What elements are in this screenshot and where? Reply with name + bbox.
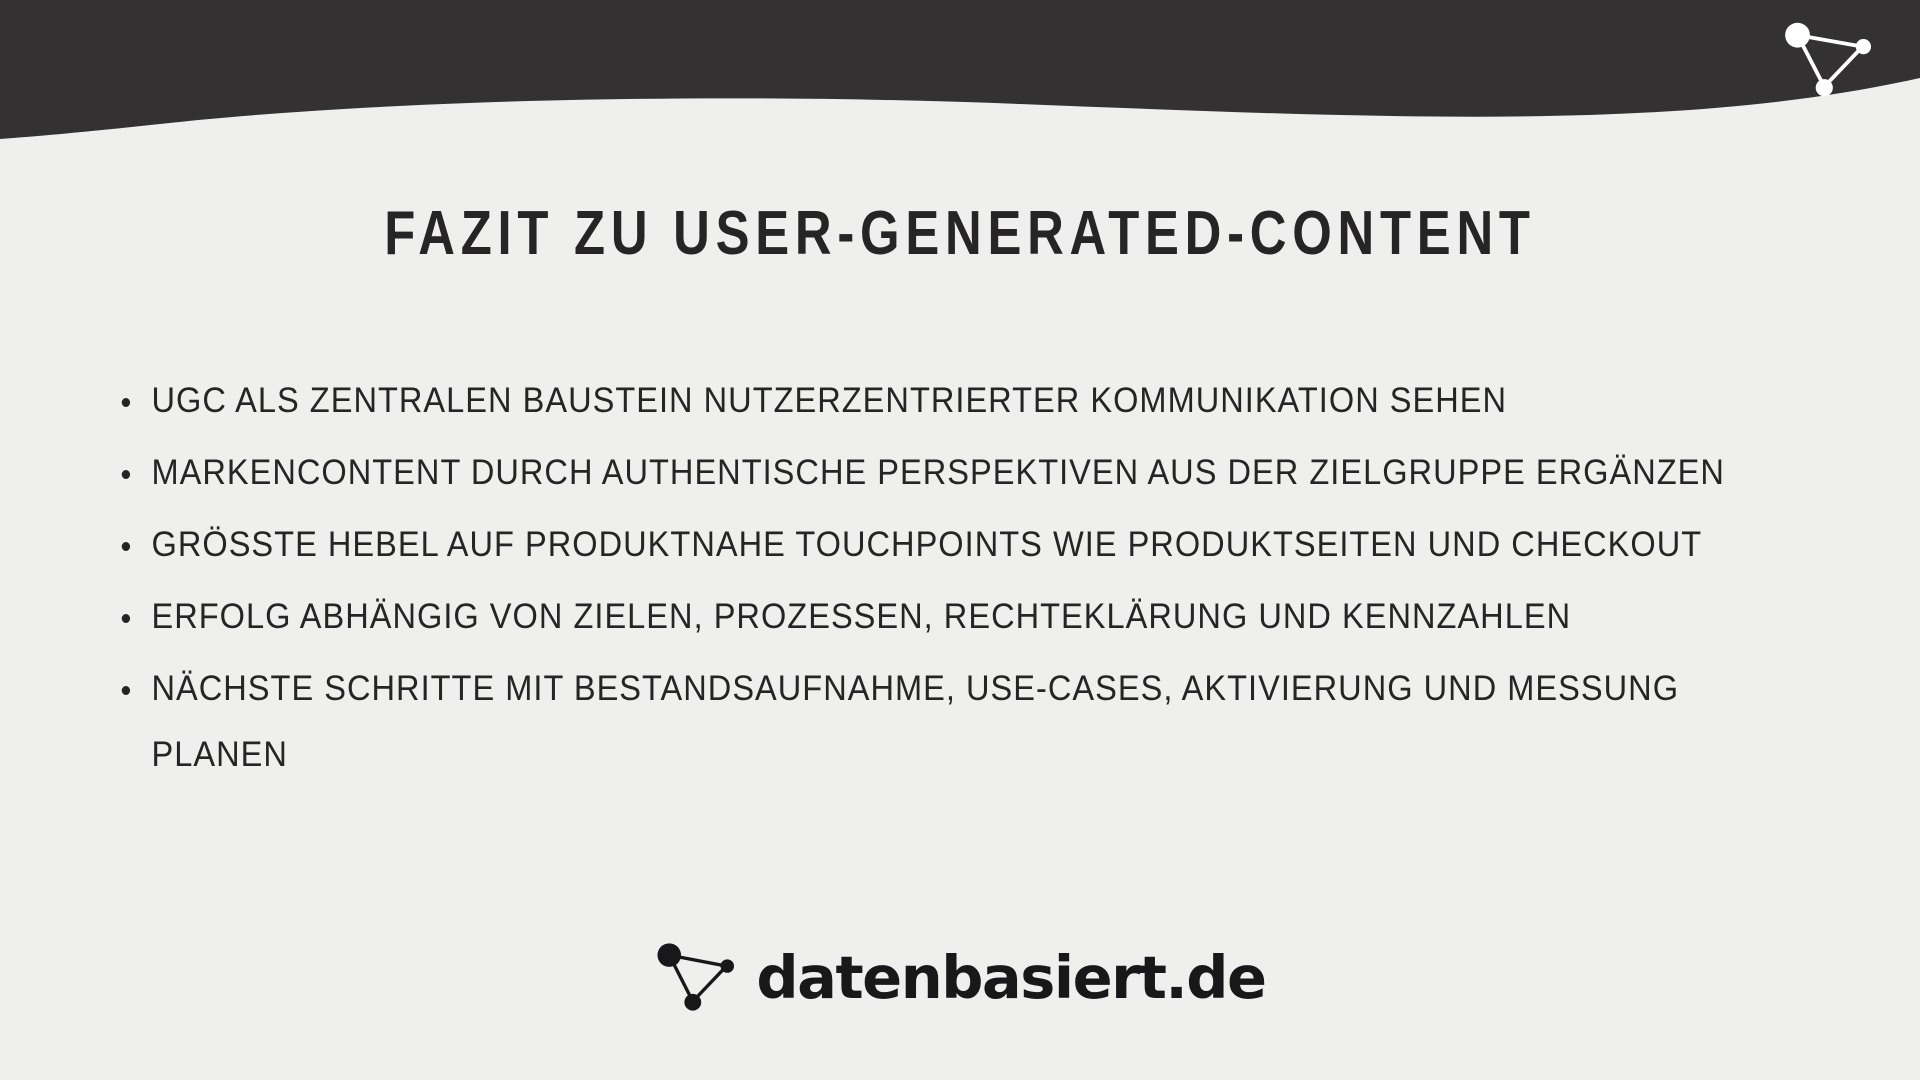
header-logo-mark: [1782, 18, 1878, 102]
bullet-item: NÄCHSTE SCHRITTE MIT BESTANDSAUFNAHME, U…: [118, 656, 1736, 788]
header-wave-band: [0, 0, 1920, 150]
bullet-item: MARKENCONTENT DURCH AUTHENTISCHE PERSPEK…: [118, 440, 1736, 506]
node-circle-bottom: [685, 994, 702, 1011]
footer-logo: datenbasiert.de: [0, 940, 1920, 1014]
footer-logo-mark: [654, 940, 740, 1014]
bullet-item: ERFOLG ABHÄNGIG VON ZIELEN, PROZESSEN, R…: [118, 584, 1736, 650]
bullet-item: UGC ALS ZENTRALEN BAUSTEIN NUTZERZENTRIE…: [118, 368, 1736, 434]
bullet-item: GRÖSSTE HEBEL AUF PRODUKTNAHE TOUCHPOINT…: [118, 512, 1736, 578]
node-circle-right: [721, 959, 734, 972]
node-circle-right: [1856, 39, 1871, 54]
node-circle-large: [658, 943, 682, 967]
node-circle-bottom: [1816, 79, 1833, 96]
footer-brand-text: datenbasiert.de: [756, 948, 1265, 1007]
node-circle-large: [1785, 23, 1810, 48]
bullet-list: UGC ALS ZENTRALEN BAUSTEIN NUTZERZENTRIE…: [118, 368, 1858, 794]
slide-title: FAZIT ZU USER-GENERATED-CONTENT: [173, 200, 1747, 268]
